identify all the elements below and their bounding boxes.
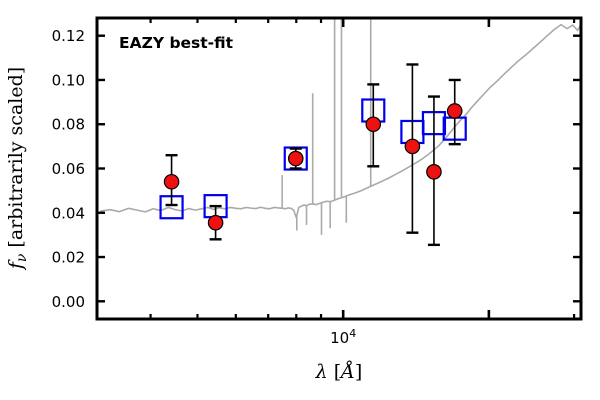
observed-photometry-point: [448, 104, 462, 118]
observed-photometry-point: [164, 175, 178, 189]
observed-photometry-point: [427, 165, 441, 179]
sed-plot: 0.000.020.040.060.080.100.12104 EAZY bes…: [0, 0, 600, 400]
y-tick-label: 0.10: [52, 71, 85, 89]
x-axis-label: λ [Å]: [315, 361, 363, 383]
x-axis-label-text: λ [Å]: [315, 361, 363, 383]
observed-photometry-point: [208, 216, 222, 230]
y-tick-label: 0.02: [52, 249, 85, 267]
y-axis-label-text: fν [arbitrarily scaled]: [5, 67, 30, 271]
observed-photometry-point: [366, 117, 380, 131]
y-tick-label: 0.06: [52, 160, 85, 178]
observed-photometry-point: [405, 139, 419, 153]
y-tick-label: 0.12: [52, 27, 85, 45]
plot-background: [0, 0, 600, 400]
observed-photometry-point: [289, 151, 303, 165]
eazy-bestfit-annotation: EAZY best-fit: [119, 34, 234, 52]
y-axis-label: fν [arbitrarily scaled]: [5, 67, 30, 271]
y-tick-label: 0.04: [52, 204, 85, 222]
y-tick-label: 0.00: [52, 293, 85, 311]
y-tick-label: 0.08: [52, 116, 85, 134]
figure-panel: 0.000.020.040.060.080.100.12104 EAZY bes…: [0, 0, 600, 400]
